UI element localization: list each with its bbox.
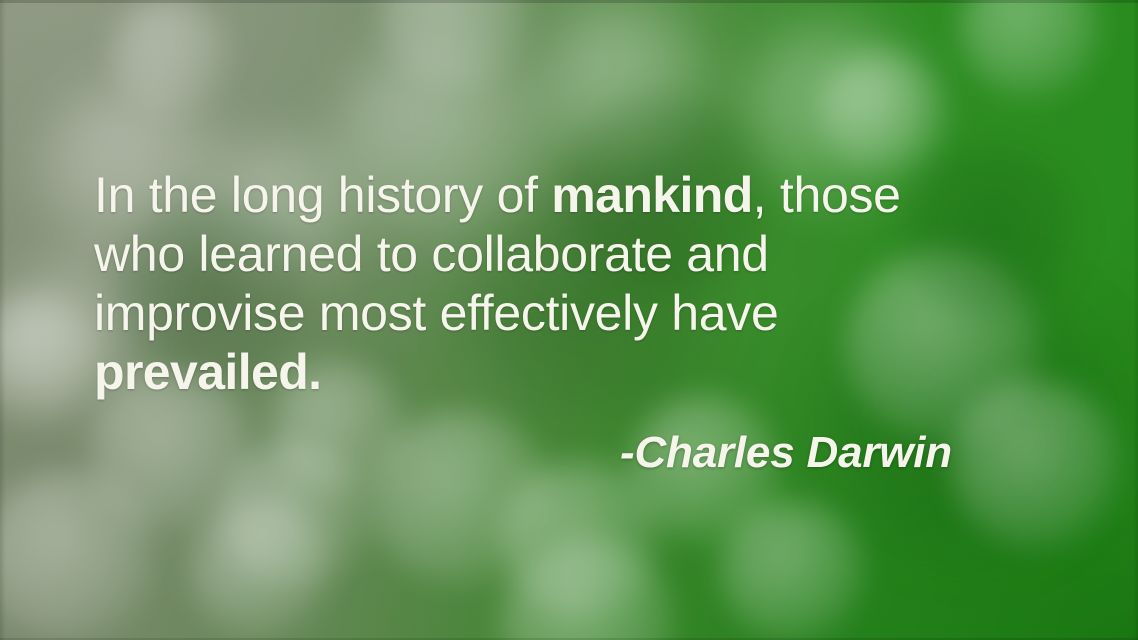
quote-span: who learned to collaborate and bbox=[94, 226, 769, 282]
quote-emphasis: mankind bbox=[551, 167, 752, 223]
quote-line: prevailed. bbox=[94, 343, 1054, 402]
quote-span: , those bbox=[753, 167, 901, 223]
quote-line: improvise most effectively have bbox=[94, 284, 1054, 343]
quote-span: In the long history of bbox=[94, 167, 551, 223]
quote-emphasis: prevailed. bbox=[94, 344, 321, 400]
quote-attribution: -Charles Darwin bbox=[94, 425, 952, 481]
quote-span: improvise most effectively have bbox=[94, 285, 779, 341]
quote-line: In the long history of mankind, those bbox=[94, 166, 1054, 225]
quote-text-block: In the long history of mankind, those wh… bbox=[94, 166, 1054, 402]
quote-line: who learned to collaborate and bbox=[94, 225, 1054, 284]
quote-slide: In the long history of mankind, those wh… bbox=[0, 0, 1138, 640]
right-edge-seam bbox=[1133, 0, 1138, 640]
left-edge-seam bbox=[0, 0, 6, 640]
top-edge-seam bbox=[0, 0, 1138, 3]
